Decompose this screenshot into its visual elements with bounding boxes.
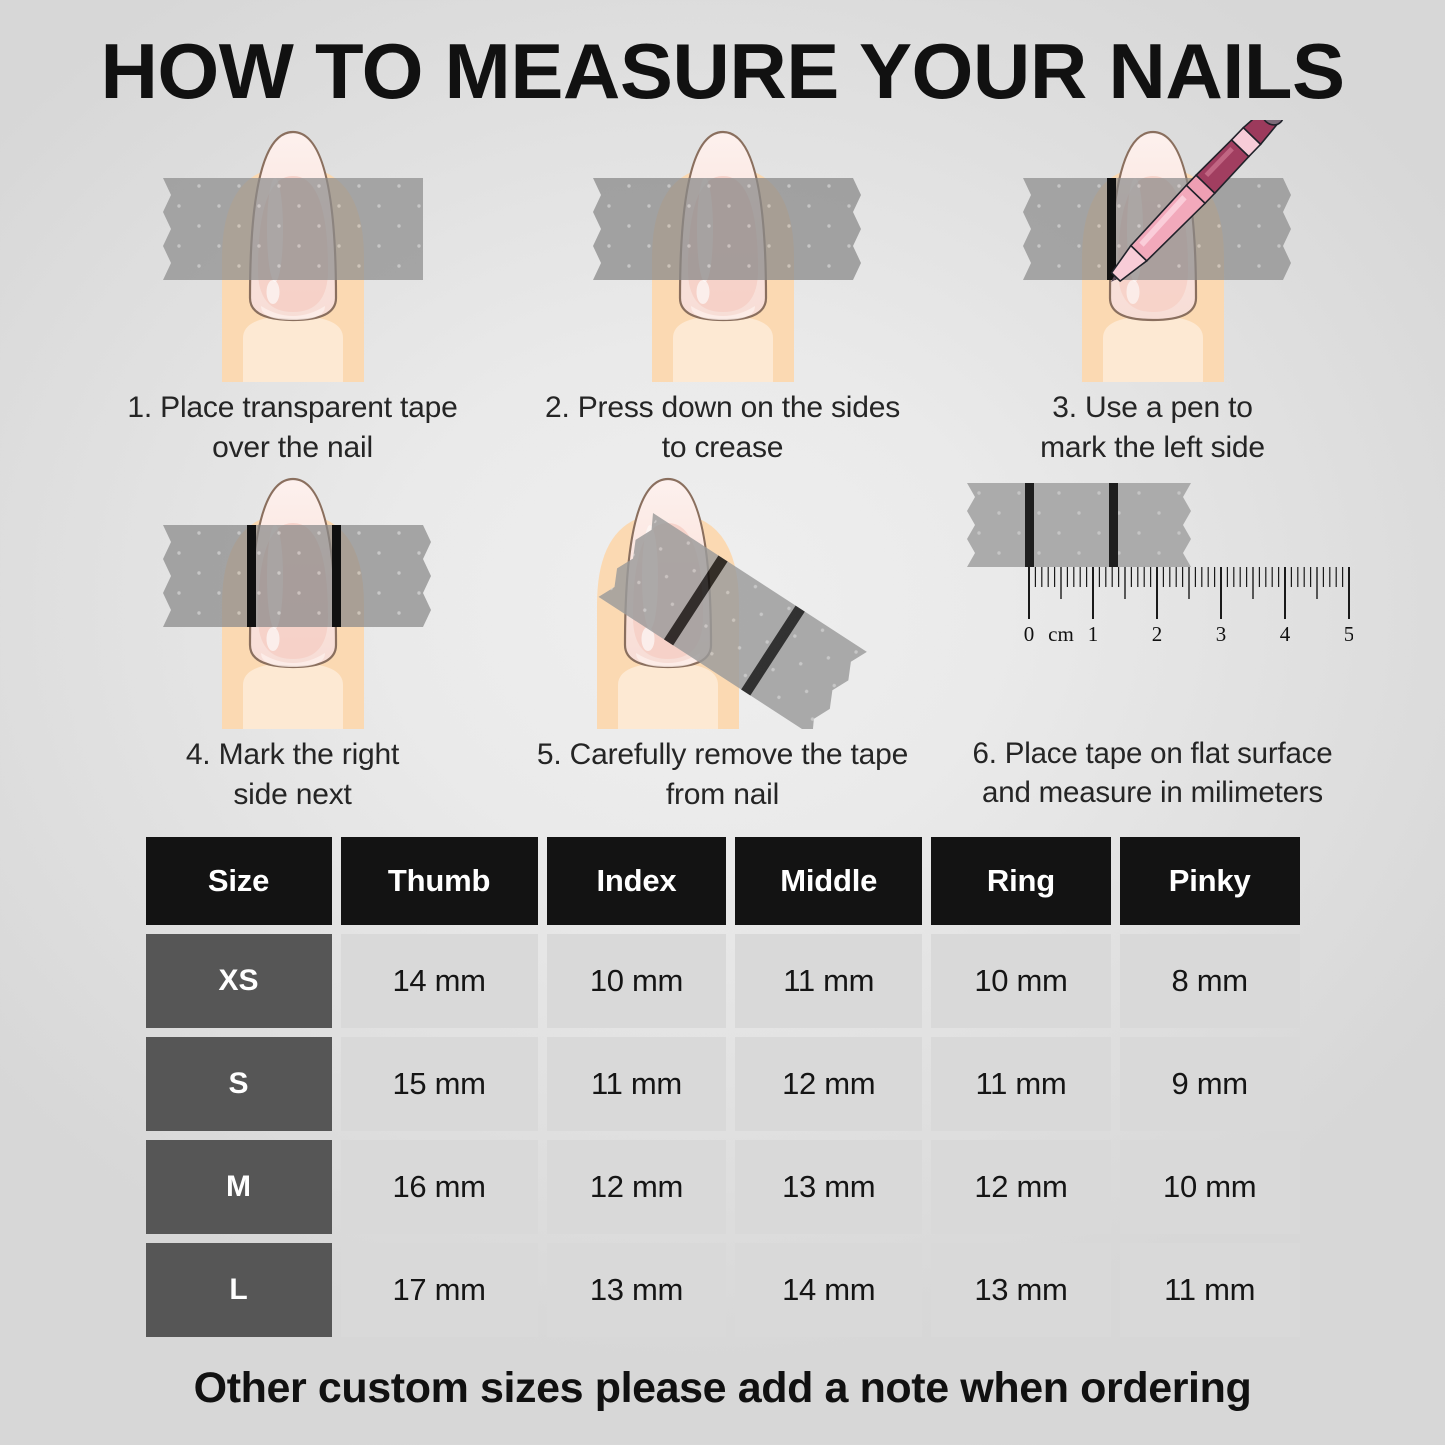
- column-header-index: Index: [547, 837, 727, 925]
- step-2-caption-line1: 2. Press down on the sides: [545, 391, 900, 424]
- cell-s-pinky: 9 mm: [1120, 1037, 1300, 1131]
- size-label-s: S: [146, 1037, 332, 1131]
- step-3: 3. Use a pen to mark the left side: [938, 120, 1368, 467]
- finger-tape-removed-diagram: [523, 467, 923, 729]
- step-4-illustration: [93, 467, 493, 729]
- finger-tape-two-marks-diagram: [93, 467, 493, 729]
- tape-strip-flat: [967, 483, 1191, 567]
- cell-m-index: 12 mm: [547, 1140, 727, 1234]
- step-3-caption: 3. Use a pen to mark the left side: [938, 388, 1368, 467]
- step-6-caption-line1: 6. Place tape on flat surface: [973, 737, 1333, 770]
- step-2-caption-line2: to crease: [662, 431, 784, 464]
- ruler-labels: 0 cm 1 2 3 4 5: [1023, 622, 1352, 646]
- ruler-unit-label: cm: [1048, 622, 1074, 646]
- step-1: 1. Place transparent tape over the nail: [78, 120, 508, 467]
- step-4: 4. Mark the right side next: [78, 467, 508, 814]
- cell-l-middle: 14 mm: [735, 1243, 922, 1337]
- step-1-caption: 1. Place transparent tape over the nail: [78, 388, 508, 467]
- tape-strip-creased: [593, 178, 861, 280]
- step-4-caption-line1: 4. Mark the right: [186, 738, 399, 771]
- finger-tape-diagram-1: [93, 120, 493, 382]
- step-2-illustration: [523, 120, 923, 382]
- ruler-tick-2: 2: [1151, 622, 1162, 646]
- cell-m-middle: 13 mm: [735, 1140, 922, 1234]
- step-3-illustration: [953, 120, 1353, 382]
- table-header-row: Size Thumb Index Middle Ring Pinky: [146, 837, 1300, 925]
- cell-l-ring: 13 mm: [931, 1243, 1111, 1337]
- steps-grid: 1. Place transparent tape over the nail: [78, 120, 1368, 814]
- right-mark: [332, 525, 341, 627]
- step-5: 5. Carefully remove the tape from nail: [508, 467, 938, 814]
- step-5-illustration: [523, 467, 923, 729]
- table-row: L 17 mm 13 mm 14 mm 13 mm 11 mm: [146, 1243, 1300, 1337]
- ruler-tick-1: 1: [1087, 622, 1098, 646]
- size-label-m: M: [146, 1140, 332, 1234]
- size-label-xs: XS: [146, 934, 332, 1028]
- cell-s-middle: 12 mm: [735, 1037, 922, 1131]
- step-6-caption-line2: and measure in milimeters: [982, 776, 1323, 809]
- ruler-tick-5: 5: [1343, 622, 1352, 646]
- column-header-pinky: Pinky: [1120, 837, 1300, 925]
- cell-l-thumb: 17 mm: [341, 1243, 538, 1337]
- custom-size-note: Other custom sizes please add a note whe…: [0, 1364, 1445, 1413]
- cell-xs-thumb: 14 mm: [341, 934, 538, 1028]
- size-chart-table: Size Thumb Index Middle Ring Pinky XS 14…: [137, 828, 1309, 1346]
- tape-strip: [163, 178, 423, 280]
- page-title: HOW TO MEASURE YOUR NAILS: [0, 0, 1445, 110]
- step-2: 2. Press down on the sides to crease: [508, 120, 938, 467]
- tape-ruler-diagram: 0 cm 1 2 3 4 5: [953, 467, 1353, 729]
- cell-s-thumb: 15 mm: [341, 1037, 538, 1131]
- cell-s-index: 11 mm: [547, 1037, 727, 1131]
- column-header-thumb: Thumb: [341, 837, 538, 925]
- table-header: Size Thumb Index Middle Ring Pinky: [146, 837, 1300, 925]
- step-6: 0 cm 1 2 3 4 5 6. Place tape on flat sur…: [938, 467, 1368, 814]
- left-mark: [247, 525, 256, 627]
- cell-l-pinky: 11 mm: [1120, 1243, 1300, 1337]
- step-1-caption-line2: over the nail: [212, 431, 373, 464]
- size-label-l: L: [146, 1243, 332, 1337]
- ruler-tick-0: 0: [1023, 622, 1034, 646]
- step-1-caption-line1: 1. Place transparent tape: [127, 391, 457, 424]
- table-body: XS 14 mm 10 mm 11 mm 10 mm 8 mm S 15 mm …: [146, 934, 1300, 1337]
- step-3-caption-line1: 3. Use a pen to: [1052, 391, 1252, 424]
- step-5-caption: 5. Carefully remove the tape from nail: [508, 735, 938, 814]
- finger-tape-diagram-2: [523, 120, 923, 382]
- column-header-middle: Middle: [735, 837, 922, 925]
- cell-l-index: 13 mm: [547, 1243, 727, 1337]
- table-row: S 15 mm 11 mm 12 mm 11 mm 9 mm: [146, 1037, 1300, 1131]
- step-5-caption-line2: from nail: [666, 778, 779, 811]
- cell-m-thumb: 16 mm: [341, 1140, 538, 1234]
- step-1-illustration: [93, 120, 493, 382]
- cell-s-ring: 11 mm: [931, 1037, 1111, 1131]
- finger-tape-pen-diagram: [953, 120, 1353, 382]
- step-6-illustration: 0 cm 1 2 3 4 5: [953, 467, 1353, 729]
- cell-xs-pinky: 8 mm: [1120, 934, 1300, 1028]
- step-3-caption-line2: mark the left side: [1040, 431, 1265, 464]
- left-mark: [1107, 178, 1116, 280]
- step-4-caption-line2: side next: [233, 778, 351, 811]
- step-6-caption: 6. Place tape on flat surface and measur…: [938, 735, 1368, 813]
- tape-mark-left: [1025, 483, 1034, 567]
- ruler-tick-4: 4: [1279, 622, 1290, 646]
- step-5-caption-line1: 5. Carefully remove the tape: [537, 738, 908, 771]
- ruler: 0 cm 1 2 3 4 5: [1023, 567, 1352, 646]
- tape-strip: [163, 525, 431, 627]
- cell-m-ring: 12 mm: [931, 1140, 1111, 1234]
- cell-m-pinky: 10 mm: [1120, 1140, 1300, 1234]
- table-row: XS 14 mm 10 mm 11 mm 10 mm 8 mm: [146, 934, 1300, 1028]
- cell-xs-index: 10 mm: [547, 934, 727, 1028]
- ruler-tick-3: 3: [1215, 622, 1226, 646]
- cell-xs-middle: 11 mm: [735, 934, 922, 1028]
- tape-mark-right: [1109, 483, 1118, 567]
- column-header-size: Size: [146, 837, 332, 925]
- step-2-caption: 2. Press down on the sides to crease: [508, 388, 938, 467]
- column-header-ring: Ring: [931, 837, 1111, 925]
- table-row: M 16 mm 12 mm 13 mm 12 mm 10 mm: [146, 1140, 1300, 1234]
- step-4-caption: 4. Mark the right side next: [78, 735, 508, 814]
- cell-xs-ring: 10 mm: [931, 934, 1111, 1028]
